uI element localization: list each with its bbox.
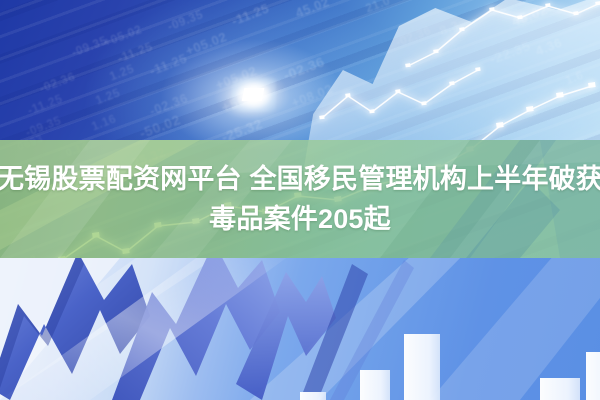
chart-node-marker: [319, 115, 324, 119]
chart-node-marker: [449, 81, 454, 85]
chart-node-marker: [573, 11, 578, 15]
chart-node-marker: [433, 49, 438, 53]
chart-node-marker: [459, 27, 464, 31]
spotlight-core: [242, 88, 265, 101]
bar-column: [360, 370, 390, 400]
bar-column: [540, 378, 580, 400]
chart-node-marker: [395, 89, 400, 93]
chart-node-marker: [588, 82, 596, 88]
chart-node-marker: [405, 63, 410, 67]
chart-node-marker: [496, 122, 504, 128]
chart-node-marker: [489, 7, 494, 11]
ground-background: [0, 258, 600, 400]
chart-node-marker: [526, 106, 534, 112]
chart-node-marker: [345, 93, 350, 97]
bar-column: [404, 334, 440, 400]
chart-node-marker: [421, 101, 426, 105]
chart-node-marker: [545, 3, 550, 7]
chart-node-marker: [595, 1, 600, 5]
headline-line-1: 无锡股票配资网平台 全国移民管理机构上半年破获: [0, 160, 600, 198]
chart-node-marker: [475, 67, 480, 71]
headline-block: 无锡股票配资网平台 全国移民管理机构上半年破获 毒品案件205起: [0, 140, 600, 258]
headline-line-2: 毒品案件205起: [209, 200, 391, 238]
bar-column: [300, 392, 326, 400]
banner-image: +05.02-09.35-11.2545.0221.045.02-09.35-1…: [0, 0, 600, 400]
chart-node-marker: [369, 109, 374, 113]
bar-column: [586, 352, 600, 400]
chart-node-marker: [517, 15, 522, 19]
ground-graphics: [0, 258, 600, 400]
chart-node-marker: [556, 92, 564, 98]
